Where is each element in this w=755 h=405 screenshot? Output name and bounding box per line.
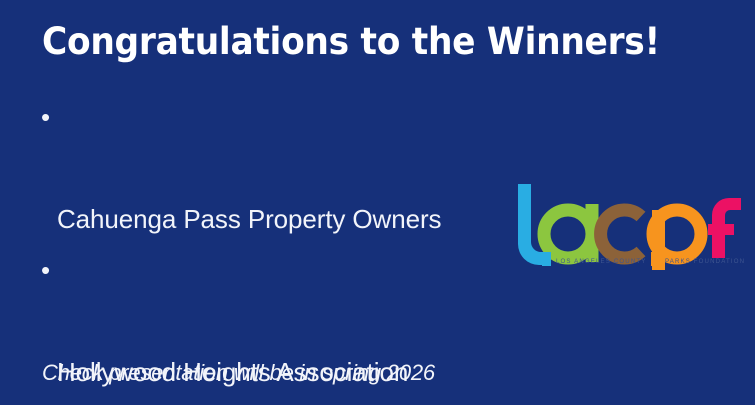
bullet-icon: • <box>41 92 50 143</box>
logo-letter-a-icon <box>544 204 599 262</box>
congratulations-slide: Congratulations to the Winners! • Cahuen… <box>0 0 755 405</box>
footnote-text: Check presentation will be in spring 202… <box>42 360 435 386</box>
winners-list: • Cahuenga Pass Property Owners • Hollyw… <box>40 92 500 405</box>
logo-letter-f-icon <box>708 198 741 258</box>
tagline-right: PARKS FOUNDATION <box>665 258 745 265</box>
list-item: • Cahuenga Pass Property Owners <box>40 92 500 245</box>
tagline-swatch-left <box>542 252 551 266</box>
tagline-left: LOS ANGELES COUNTY <box>556 258 646 265</box>
lacpf-logo: LOS ANGELES COUNTY PARKS FOUNDATION <box>512 182 747 270</box>
bullet-icon: • <box>41 398 50 405</box>
list-item-label: Cahuenga Pass Property Owners <box>57 204 441 234</box>
bullet-icon: • <box>41 245 50 296</box>
page-title: Congratulations to the Winners! <box>42 20 660 63</box>
logo-letter-c-icon <box>601 210 641 258</box>
tagline-swatch-right <box>651 252 660 266</box>
list-item: • Hollywood Knolls Community <box>40 398 500 405</box>
